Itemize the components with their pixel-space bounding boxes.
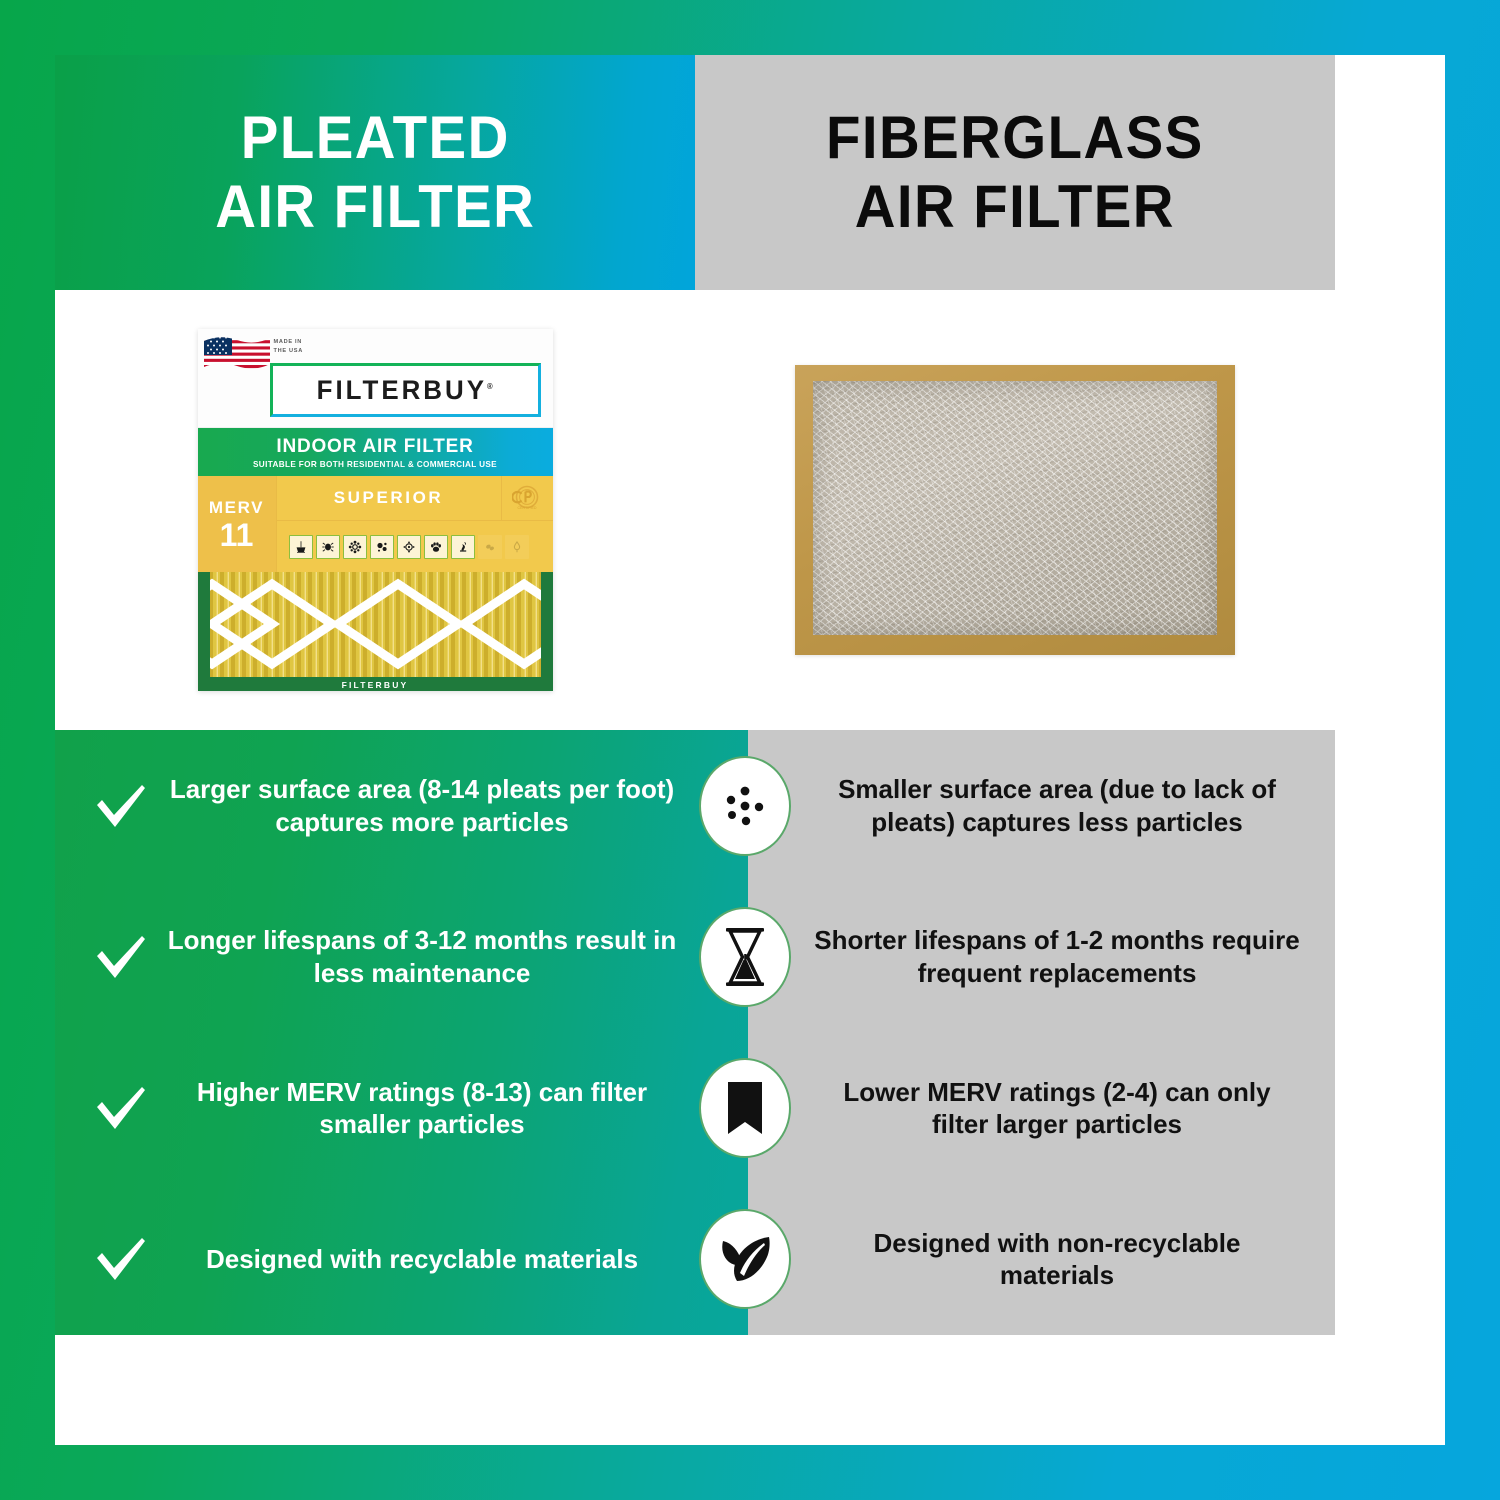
row-center-icon-wrap — [695, 907, 795, 1007]
header-fiberglass-line1: FIBERGLASS — [826, 104, 1204, 172]
smog-icon-faded — [505, 535, 529, 559]
bacteria-icon — [397, 535, 421, 559]
dust-mop-icon — [289, 535, 313, 559]
fiberglass-filter-image — [795, 365, 1235, 655]
header-pleated-title: PLEATED AIR FILTER — [215, 104, 535, 241]
package-footer-brand-wrap: FILTERBUY — [198, 677, 553, 691]
dust-mite-icon — [316, 535, 340, 559]
fiberglass-mesh — [813, 381, 1217, 635]
package-header: MADE IN THE USA FILTERBUY® — [198, 329, 553, 428]
row-left-cell: Designed with recyclable materials — [55, 1228, 695, 1290]
checkmark-icon — [89, 1228, 151, 1290]
merv-block: MERV 11 — [198, 476, 277, 572]
comparison-row: Larger surface area (8-14 pleats per foo… — [55, 730, 1335, 881]
filterbuy-brand: FILTERBUY — [317, 375, 487, 405]
row-left-text: Larger surface area (8-14 pleats per foo… — [165, 773, 695, 838]
package-merv-section: MERV 11 SUPERIOR — [198, 476, 553, 572]
pleated-filter-package-image: MADE IN THE USA FILTERBUY® INDOOR AIR FI… — [198, 329, 553, 691]
header-pleated-line2: AIR FILTER — [215, 173, 535, 241]
merv-right-column: SUPERIOR CERTIFIED — [277, 476, 553, 572]
row-right-text: Smaller surface area (due to lack of ple… — [795, 773, 1335, 838]
comparison-rows: Larger surface area (8-14 pleats per foo… — [55, 730, 1335, 1335]
made-in-line1: MADE IN — [274, 338, 303, 347]
product-image-row: MADE IN THE USA FILTERBUY® INDOOR AIR FI… — [55, 290, 1335, 730]
pleated-product-cell: MADE IN THE USA FILTERBUY® INDOOR AIR FI… — [55, 290, 695, 730]
suitable-use-label: SUITABLE FOR BOTH RESIDENTIAL & COMMERCI… — [253, 460, 497, 469]
row-right-text: Lower MERV ratings (2-4) can only filter… — [795, 1076, 1335, 1141]
checkmark-icon — [89, 775, 151, 837]
tier-label: SUPERIOR — [277, 488, 501, 508]
comparison-section: Larger surface area (8-14 pleats per foo… — [55, 730, 1335, 1335]
checkmark-icon — [89, 926, 151, 988]
tier-row: SUPERIOR CERTIFIED — [277, 476, 553, 521]
filterbuy-logo-text: FILTERBUY® — [317, 375, 493, 406]
row-right-text: Shorter lifespans of 1-2 months require … — [795, 924, 1335, 989]
indoor-air-filter-label: INDOOR AIR FILTER — [276, 436, 473, 458]
row-left-text: Designed with recyclable materials — [165, 1243, 695, 1276]
header-pleated-line1: PLEATED — [215, 104, 535, 172]
smoke-icon — [451, 535, 475, 559]
pet-dander-icon — [424, 535, 448, 559]
made-in-usa-label: MADE IN THE USA — [274, 338, 303, 355]
row-left-text: Longer lifespans of 3-12 months result i… — [165, 924, 695, 989]
package-indoor-band: INDOOR AIR FILTER SUITABLE FOR BOTH RESI… — [198, 428, 553, 476]
row-left-cell: Longer lifespans of 3-12 months result i… — [55, 924, 695, 989]
bookmark-icon — [699, 1058, 791, 1158]
trademark-symbol: ® — [487, 382, 493, 391]
header-fiberglass-line2: AIR FILTER — [826, 173, 1204, 241]
capture-icons-strip — [277, 521, 553, 572]
certification-seal-icon: CERTIFIED — [501, 476, 553, 520]
pollen-icon — [343, 535, 367, 559]
merv-label: MERV — [209, 498, 264, 518]
mold-spores-icon — [370, 535, 394, 559]
hourglass-icon — [699, 907, 791, 1007]
row-left-cell: Larger surface area (8-14 pleats per foo… — [55, 773, 695, 838]
row-left-text: Higher MERV ratings (8-13) can filter sm… — [165, 1076, 695, 1141]
package-footer-brand: FILTERBUY — [342, 680, 409, 690]
comparison-row: Designed with recyclable materials Desig… — [55, 1184, 1335, 1335]
merv-value: 11 — [220, 519, 254, 551]
comparison-row: Longer lifespans of 3-12 months result i… — [55, 881, 1335, 1032]
particles-icon — [699, 756, 791, 856]
made-in-line2: THE USA — [274, 347, 303, 356]
header-fiberglass-title: FIBERGLASS AIR FILTER — [826, 104, 1204, 241]
checkmark-icon — [89, 1077, 151, 1139]
row-center-icon-wrap — [695, 1058, 795, 1158]
row-center-icon-wrap — [695, 1209, 795, 1309]
fiberglass-product-cell — [695, 290, 1335, 730]
comparison-row: Higher MERV ratings (8-13) can filter sm… — [55, 1033, 1335, 1184]
header-fiberglass: FIBERGLASS AIR FILTER — [695, 55, 1335, 290]
svg-text:CERTIFIED: CERTIFIED — [518, 506, 537, 510]
row-right-text: Designed with non-recyclable materials — [795, 1227, 1335, 1292]
virus-icon-faded — [478, 535, 502, 559]
pleated-media-graphic: FILTERBUY — [198, 572, 553, 691]
row-center-icon-wrap — [695, 756, 795, 856]
header-pleated: PLEATED AIR FILTER — [55, 55, 695, 290]
infographic-root: PLEATED AIR FILTER FIBERGLASS AIR FILTER — [0, 0, 1500, 1500]
row-left-cell: Higher MERV ratings (8-13) can filter sm… — [55, 1076, 695, 1141]
header-band: PLEATED AIR FILTER FIBERGLASS AIR FILTER — [55, 55, 1335, 290]
leaf-eco-icon — [699, 1209, 791, 1309]
usa-flag-icon — [204, 334, 270, 374]
filterbuy-logo-box: FILTERBUY® — [270, 363, 541, 417]
